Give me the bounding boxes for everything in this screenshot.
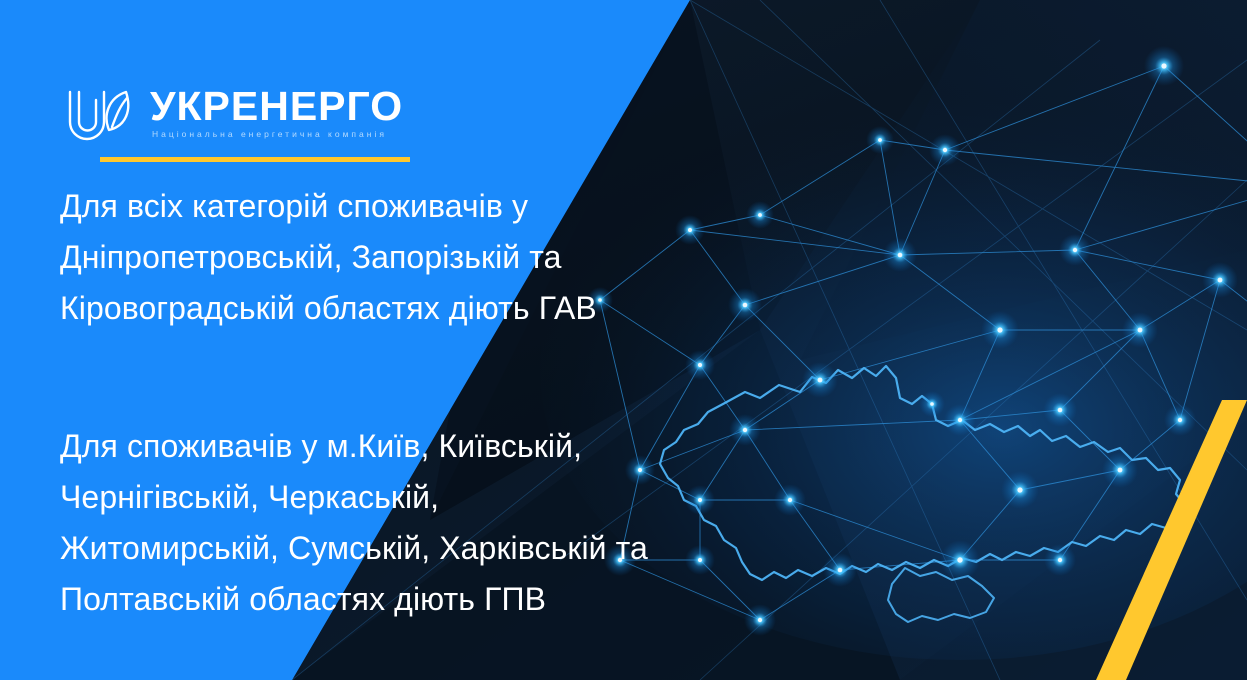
announcement-line: Для всіх категорій споживачів у	[60, 181, 597, 232]
announcement-line: Житомирській, Сумській, Харківській та	[60, 523, 648, 574]
announcement-line: Полтавській областях діють ГПВ	[60, 574, 648, 625]
logo-underline-rule	[100, 157, 410, 162]
announcement-line: Дніпропетровській, Запорізькій та	[60, 232, 597, 283]
ukrenergo-logo: УКРЕНЕРГО Національна енергетична компан…	[62, 84, 482, 168]
announcement-gpv: Для споживачів у м.Київ, Київській, Черн…	[60, 421, 648, 625]
logo-wordmark: УКРЕНЕРГО	[150, 84, 403, 128]
announcement-line: Чернігівській, Черкаській,	[60, 472, 648, 523]
announcement-gav: Для всіх категорій споживачів у Дніпропе…	[60, 181, 597, 334]
announcement-line: Кіровоградській областях діють ГАВ	[60, 283, 597, 334]
announcement-line: Для споживачів у м.Київ, Київській,	[60, 421, 648, 472]
logo-tagline: Національна енергетична компанія	[152, 129, 387, 139]
announcement-banner: УКРЕНЕРГО Національна енергетична компан…	[0, 0, 1247, 680]
ukrenergo-leaf-logo-icon	[62, 86, 140, 148]
